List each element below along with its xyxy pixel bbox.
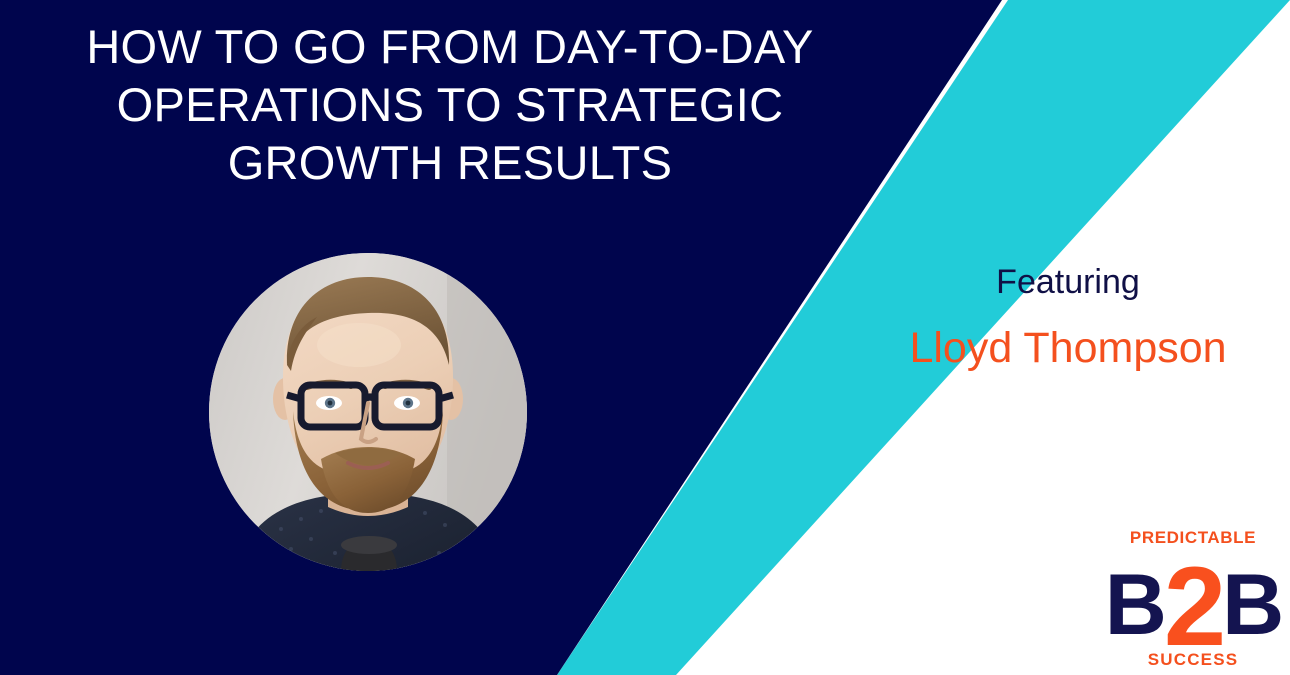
featuring-label: Featuring <box>868 262 1268 302</box>
episode-title-card: HOW TO GO FROM DAY-TO-DAY OPERATIONS TO … <box>0 0 1290 675</box>
speaker-portrait <box>209 253 527 571</box>
logo-letter-b-right: B <box>1222 557 1281 653</box>
logo-bottom-word: SUCCESS <box>1098 650 1288 670</box>
logo-wordmark: B2B <box>1098 546 1288 646</box>
brand-logo: PREDICTABLE B2B SUCCESS <box>1098 524 1288 670</box>
page-title: HOW TO GO FROM DAY-TO-DAY OPERATIONS TO … <box>20 18 880 192</box>
logo-letter-b-left: B <box>1105 557 1164 653</box>
portrait-illustration <box>209 253 527 571</box>
speaker-name: Lloyd Thompson <box>868 322 1268 374</box>
